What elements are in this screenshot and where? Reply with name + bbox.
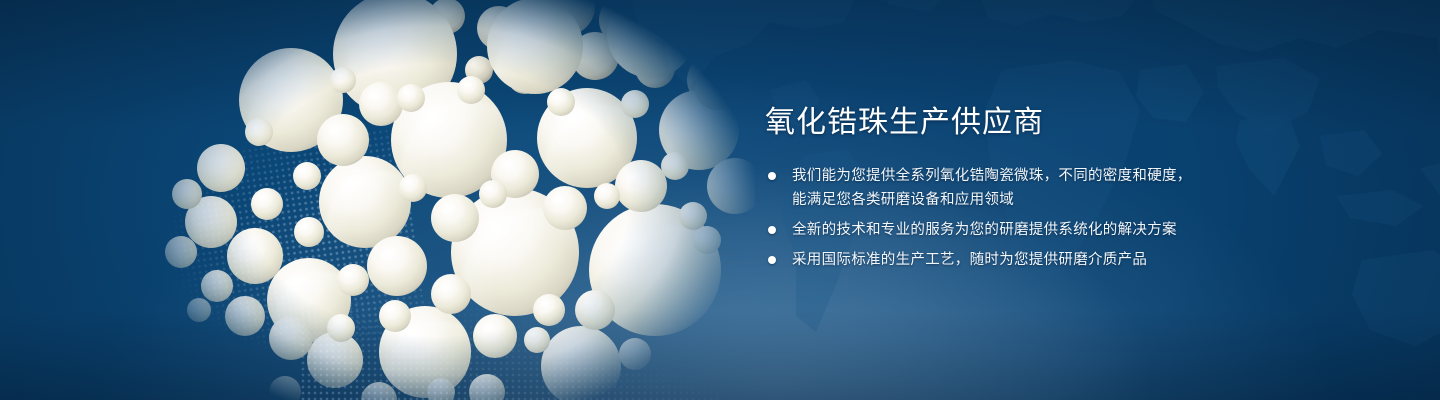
hero-banner: 氧化锆珠生产供应商 我们能为您提供全系列氧化锆陶瓷微珠，不同的密度和硬度， 能满… bbox=[0, 0, 1440, 400]
bullet-text-line1: 采用国际标准的生产工艺，随时为您提供研磨介质产品 bbox=[792, 252, 1147, 268]
list-item: 我们能为您提供全系列氧化锆陶瓷微珠，不同的密度和硬度， 能满足您各类研磨设备和应… bbox=[765, 164, 1325, 212]
feature-list: 我们能为您提供全系列氧化锆陶瓷微珠，不同的密度和硬度， 能满足您各类研磨设备和应… bbox=[765, 164, 1325, 272]
list-item: 采用国际标准的生产工艺，随时为您提供研磨介质产品 bbox=[765, 248, 1325, 272]
bullet-text-line1: 我们能为您提供全系列氧化锆陶瓷微珠，不同的密度和硬度， bbox=[792, 168, 1192, 184]
list-item: 全新的技术和专业的服务为您的研磨提供系统化的解决方案 bbox=[765, 218, 1325, 242]
banner-copy: 氧化锆珠生产供应商 我们能为您提供全系列氧化锆陶瓷微珠，不同的密度和硬度， 能满… bbox=[765, 104, 1325, 272]
bullet-dot-icon bbox=[768, 172, 776, 180]
bullet-dot-icon bbox=[768, 226, 776, 234]
page-title: 氧化锆珠生产供应商 bbox=[765, 104, 1325, 142]
bullet-text-line1: 全新的技术和专业的服务为您的研磨提供系统化的解决方案 bbox=[792, 222, 1177, 238]
bullet-dot-icon bbox=[768, 256, 776, 264]
bullet-text-line2: 能满足您各类研磨设备和应用领域 bbox=[792, 188, 1325, 212]
